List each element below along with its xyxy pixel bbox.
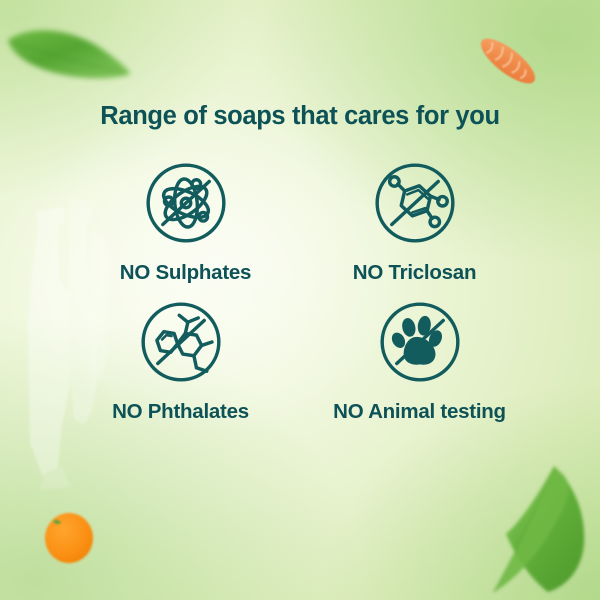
- feature-item-animal-testing: NO Animal testing: [308, 299, 531, 424]
- features-grid: NO Sulphates: [0, 160, 600, 424]
- feature-item-phthalates: NO Phthalates: [69, 299, 292, 424]
- no-atom-icon: [143, 160, 229, 246]
- feature-label: NO Phthalates: [112, 400, 249, 424]
- features-row: NO Sulphates: [0, 160, 600, 285]
- feature-label: NO Animal testing: [333, 400, 506, 424]
- page-title: Range of soaps that cares for you: [0, 102, 600, 131]
- features-row: NO Phthalates: [0, 299, 600, 424]
- poster-content: Range of soaps that cares for you: [0, 0, 600, 600]
- feature-label: NO Sulphates: [120, 261, 251, 285]
- no-phthalate-icon: [138, 299, 224, 385]
- no-molecule-icon: [372, 160, 458, 246]
- no-paw-icon: [377, 299, 463, 385]
- feature-item-sulphates: NO Sulphates: [74, 160, 297, 285]
- promo-poster: Range of soaps that cares for you: [0, 0, 600, 600]
- feature-label: NO Triclosan: [353, 261, 476, 285]
- feature-item-triclosan: NO Triclosan: [303, 160, 526, 285]
